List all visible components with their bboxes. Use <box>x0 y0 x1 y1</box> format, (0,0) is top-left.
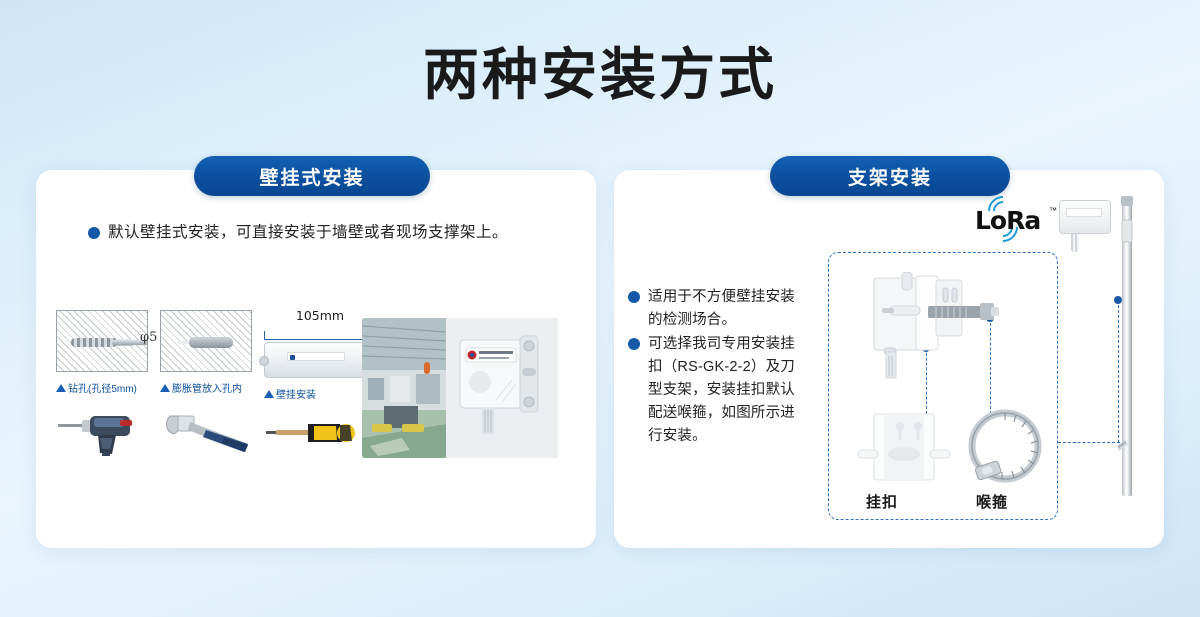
bullet-dot-icon <box>628 338 640 350</box>
hanging-hook-plate-icon <box>856 412 952 484</box>
badge-wall-mount: 壁挂式安装 <box>194 156 430 196</box>
hose-clamp-icon <box>966 408 1044 486</box>
lora-logo: LoRa ™ <box>975 202 1055 236</box>
mount-ear-left-icon <box>259 356 269 366</box>
dimension-text: 105mm <box>296 308 344 323</box>
drill-bit-shape <box>71 338 117 347</box>
wall-hatch-illustration <box>56 310 148 372</box>
factory-interior-photo <box>362 318 446 458</box>
bracket-bullet-2: 可选择我司专用安装挂扣（RS-GK-2-2）及刀型支架，安装挂扣默认配送喉箍，如… <box>628 333 808 448</box>
dimension-bar-icon <box>264 331 376 340</box>
factory-photo-art <box>362 318 446 458</box>
device-nameplate <box>287 352 345 361</box>
bullet-dot-icon <box>628 291 640 303</box>
step-3-label: 壁挂安装 <box>264 386 376 401</box>
electric-drill-icon <box>56 408 148 456</box>
step-drill-hole: φ5 钻孔(孔径5mm) <box>56 310 148 401</box>
pole-device-probe <box>1071 234 1079 252</box>
triangle-marker-icon <box>56 384 66 392</box>
wall-mount-intro-text: 默认壁挂式安装，可直接安装于墙壁或者现场支撑架上。 <box>108 222 508 244</box>
bracket-bullet-2-text: 可选择我司专用安装挂扣（RS-GK-2-2）及刀型支架，安装挂扣默认配送喉箍，如… <box>648 333 808 448</box>
pole-connector-dash <box>1058 442 1120 443</box>
dimension-annotation: 105mm <box>264 310 376 340</box>
step-1-label-text: 钻孔(孔径5mm) <box>68 380 137 395</box>
bracket-bullet-1-text: 适用于不方便壁挂安装的检测场合。 <box>648 286 808 332</box>
tools-row <box>56 404 356 460</box>
sensor-device-photo-art <box>446 318 558 458</box>
pole-device-body <box>1059 200 1111 234</box>
badge-bracket-mount: 支架安装 <box>770 156 1010 196</box>
bracket-mount-bullets: 适用于不方便壁挂安装的检测场合。 可选择我司专用安装挂扣（RS-GK-2-2）及… <box>628 286 808 448</box>
device-front-illustration <box>264 342 376 378</box>
knife-type-pole <box>1118 196 1136 502</box>
wall-mounted-sensor-photo <box>446 318 558 458</box>
triangle-marker-icon <box>264 390 274 398</box>
lora-wordmark: LoRa <box>975 206 1040 235</box>
screwdriver-icon <box>264 418 360 448</box>
triangle-marker-icon <box>160 384 170 392</box>
step-insert-plug: 膨胀管放入孔内 <box>160 310 252 401</box>
clamp-part-label: 喉箍 <box>976 491 1008 512</box>
step-2-label: 膨胀管放入孔内 <box>160 380 252 395</box>
pole-mounted-device <box>1059 200 1119 246</box>
wall-mount-intro: 默认壁挂式安装，可直接安装于墙壁或者现场支撑架上。 <box>88 222 558 244</box>
hook-part-label: 挂扣 <box>866 491 898 512</box>
bracket-assembly-illustration <box>872 272 1000 380</box>
bullet-dot-icon <box>88 227 100 239</box>
step-2-label-text: 膨胀管放入孔内 <box>172 380 242 395</box>
wall-mount-steps: φ5 钻孔(孔径5mm) 膨胀管放入孔内 105mm 壁挂安装 <box>56 310 356 401</box>
installation-photos <box>362 318 558 458</box>
expansion-plug-shape <box>189 337 233 348</box>
lora-trademark: ™ <box>1049 206 1057 215</box>
page-title: 两种安装方式 <box>0 48 1200 104</box>
step-3-label-text: 壁挂安装 <box>276 386 316 401</box>
step-1-annotation: φ5 <box>140 330 157 345</box>
claw-hammer-icon <box>160 410 252 456</box>
bracket-bullet-1: 适用于不方便壁挂安装的检测场合。 <box>628 286 808 332</box>
wall-hatch-illustration-2 <box>160 310 252 372</box>
pole-detail-art <box>1118 196 1136 502</box>
step-1-label: 钻孔(孔径5mm) <box>56 380 148 395</box>
step-wall-mount-device: 105mm 壁挂安装 <box>264 310 376 401</box>
